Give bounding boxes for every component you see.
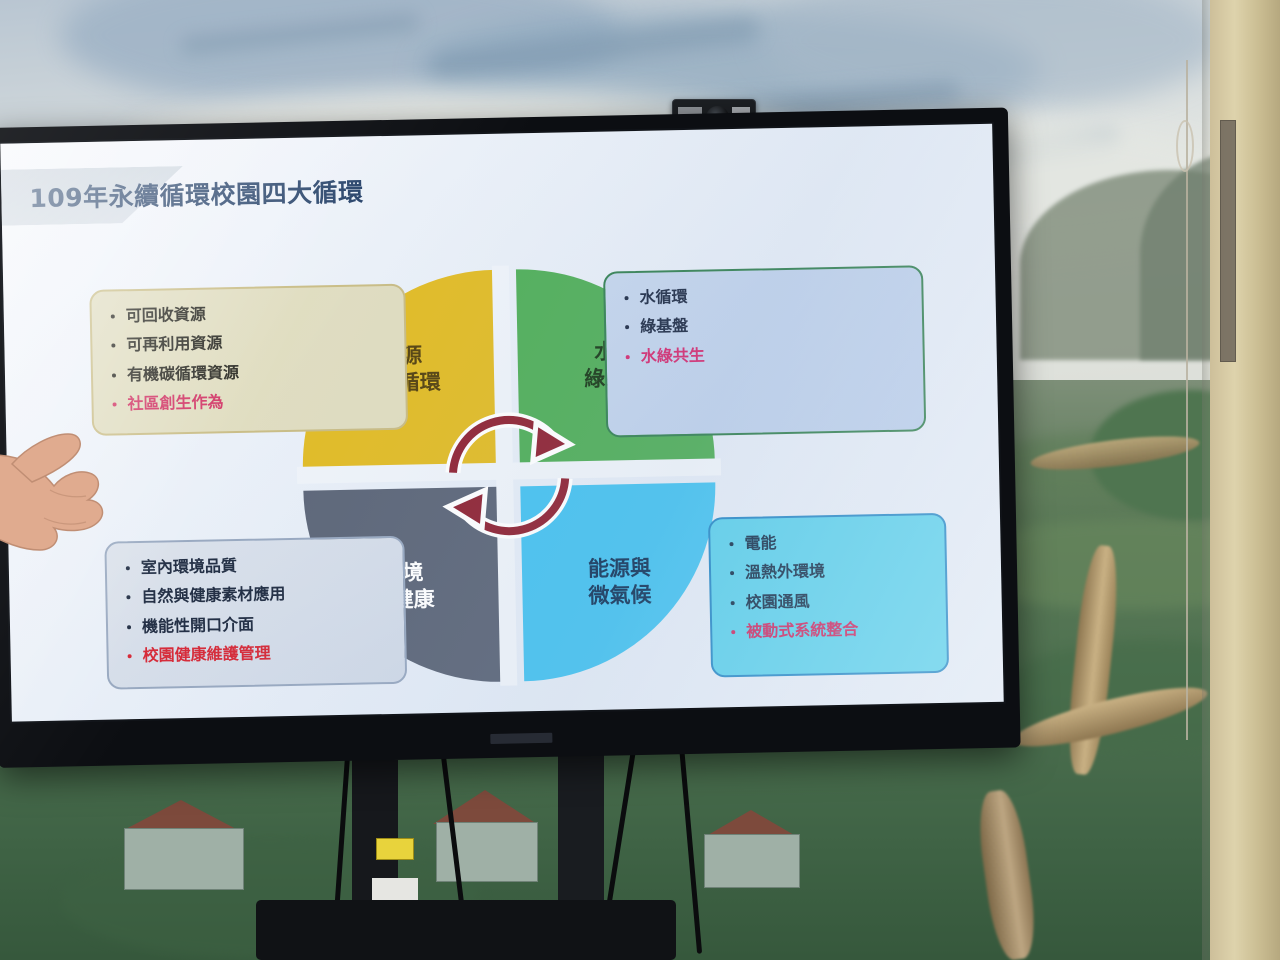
bullet-list-water: 水循環 綠基盤 水綠共生 bbox=[623, 284, 904, 367]
tv-stand-base bbox=[256, 900, 676, 960]
quadrant-label-line2: 微氣候 bbox=[588, 581, 652, 609]
list-item: 機能性開口介面 bbox=[126, 613, 386, 637]
list-item: 可再利用資源 bbox=[110, 331, 386, 355]
television: 109年永續循環校園四大循環 資源 與碳循環 水與 綠系統 bbox=[0, 107, 1021, 767]
info-box-resource[interactable]: 可回收資源 可再利用資源 有機碳循環資源 社區創生作為 bbox=[89, 284, 408, 436]
quadrant-label-line1: 能源與 bbox=[588, 554, 652, 582]
bullet-list-environment: 室內環境品質 自然與健康素材應用 機能性開口介面 校園健康維護管理 bbox=[125, 554, 387, 666]
info-box-energy[interactable]: 電能 溫熱外環境 校園通風 被動式系統整合 bbox=[708, 513, 949, 678]
door-hinge bbox=[1220, 120, 1236, 362]
list-item-highlighted: 水綠共生 bbox=[625, 342, 905, 366]
tv-brand-logo bbox=[490, 733, 552, 744]
info-box-water[interactable]: 水循環 綠基盤 水綠共生 bbox=[603, 265, 926, 437]
list-item: 自然與健康素材應用 bbox=[125, 583, 385, 607]
cord-loop bbox=[1176, 120, 1194, 172]
info-box-environment[interactable]: 室內環境品質 自然與健康素材應用 機能性開口介面 校園健康維護管理 bbox=[104, 536, 407, 690]
recycle-arrows-icon bbox=[427, 394, 590, 557]
list-item-highlighted: 社區創生作為 bbox=[111, 390, 387, 414]
list-item: 可回收資源 bbox=[110, 302, 386, 326]
list-item: 有機碳循環資源 bbox=[111, 361, 387, 385]
list-item: 水循環 bbox=[623, 284, 903, 308]
list-item: 綠基盤 bbox=[624, 313, 904, 337]
screenshot-root: 109年永續循環校園四大循環 資源 與碳循環 水與 綠系統 bbox=[0, 0, 1280, 960]
presentation-slide: 109年永續循環校園四大循環 資源 與碳循環 水與 綠系統 bbox=[0, 124, 1003, 722]
list-item-highlighted: 被動式系統整合 bbox=[730, 619, 928, 641]
bullet-list-energy: 電能 溫熱外環境 校園通風 被動式系統整合 bbox=[728, 531, 928, 642]
page-title: 109年永續循環校園四大循環 bbox=[29, 172, 364, 215]
equipment-warning-label bbox=[376, 838, 414, 860]
bullet-list-resource: 可回收資源 可再利用資源 有機碳循環資源 社區創生作為 bbox=[110, 302, 388, 414]
list-item: 室內環境品質 bbox=[125, 554, 385, 578]
list-item: 溫熱外環境 bbox=[729, 561, 927, 583]
list-item-highlighted: 校園健康維護管理 bbox=[126, 642, 386, 666]
list-item: 校園通風 bbox=[730, 590, 928, 612]
list-item: 電能 bbox=[728, 531, 926, 553]
